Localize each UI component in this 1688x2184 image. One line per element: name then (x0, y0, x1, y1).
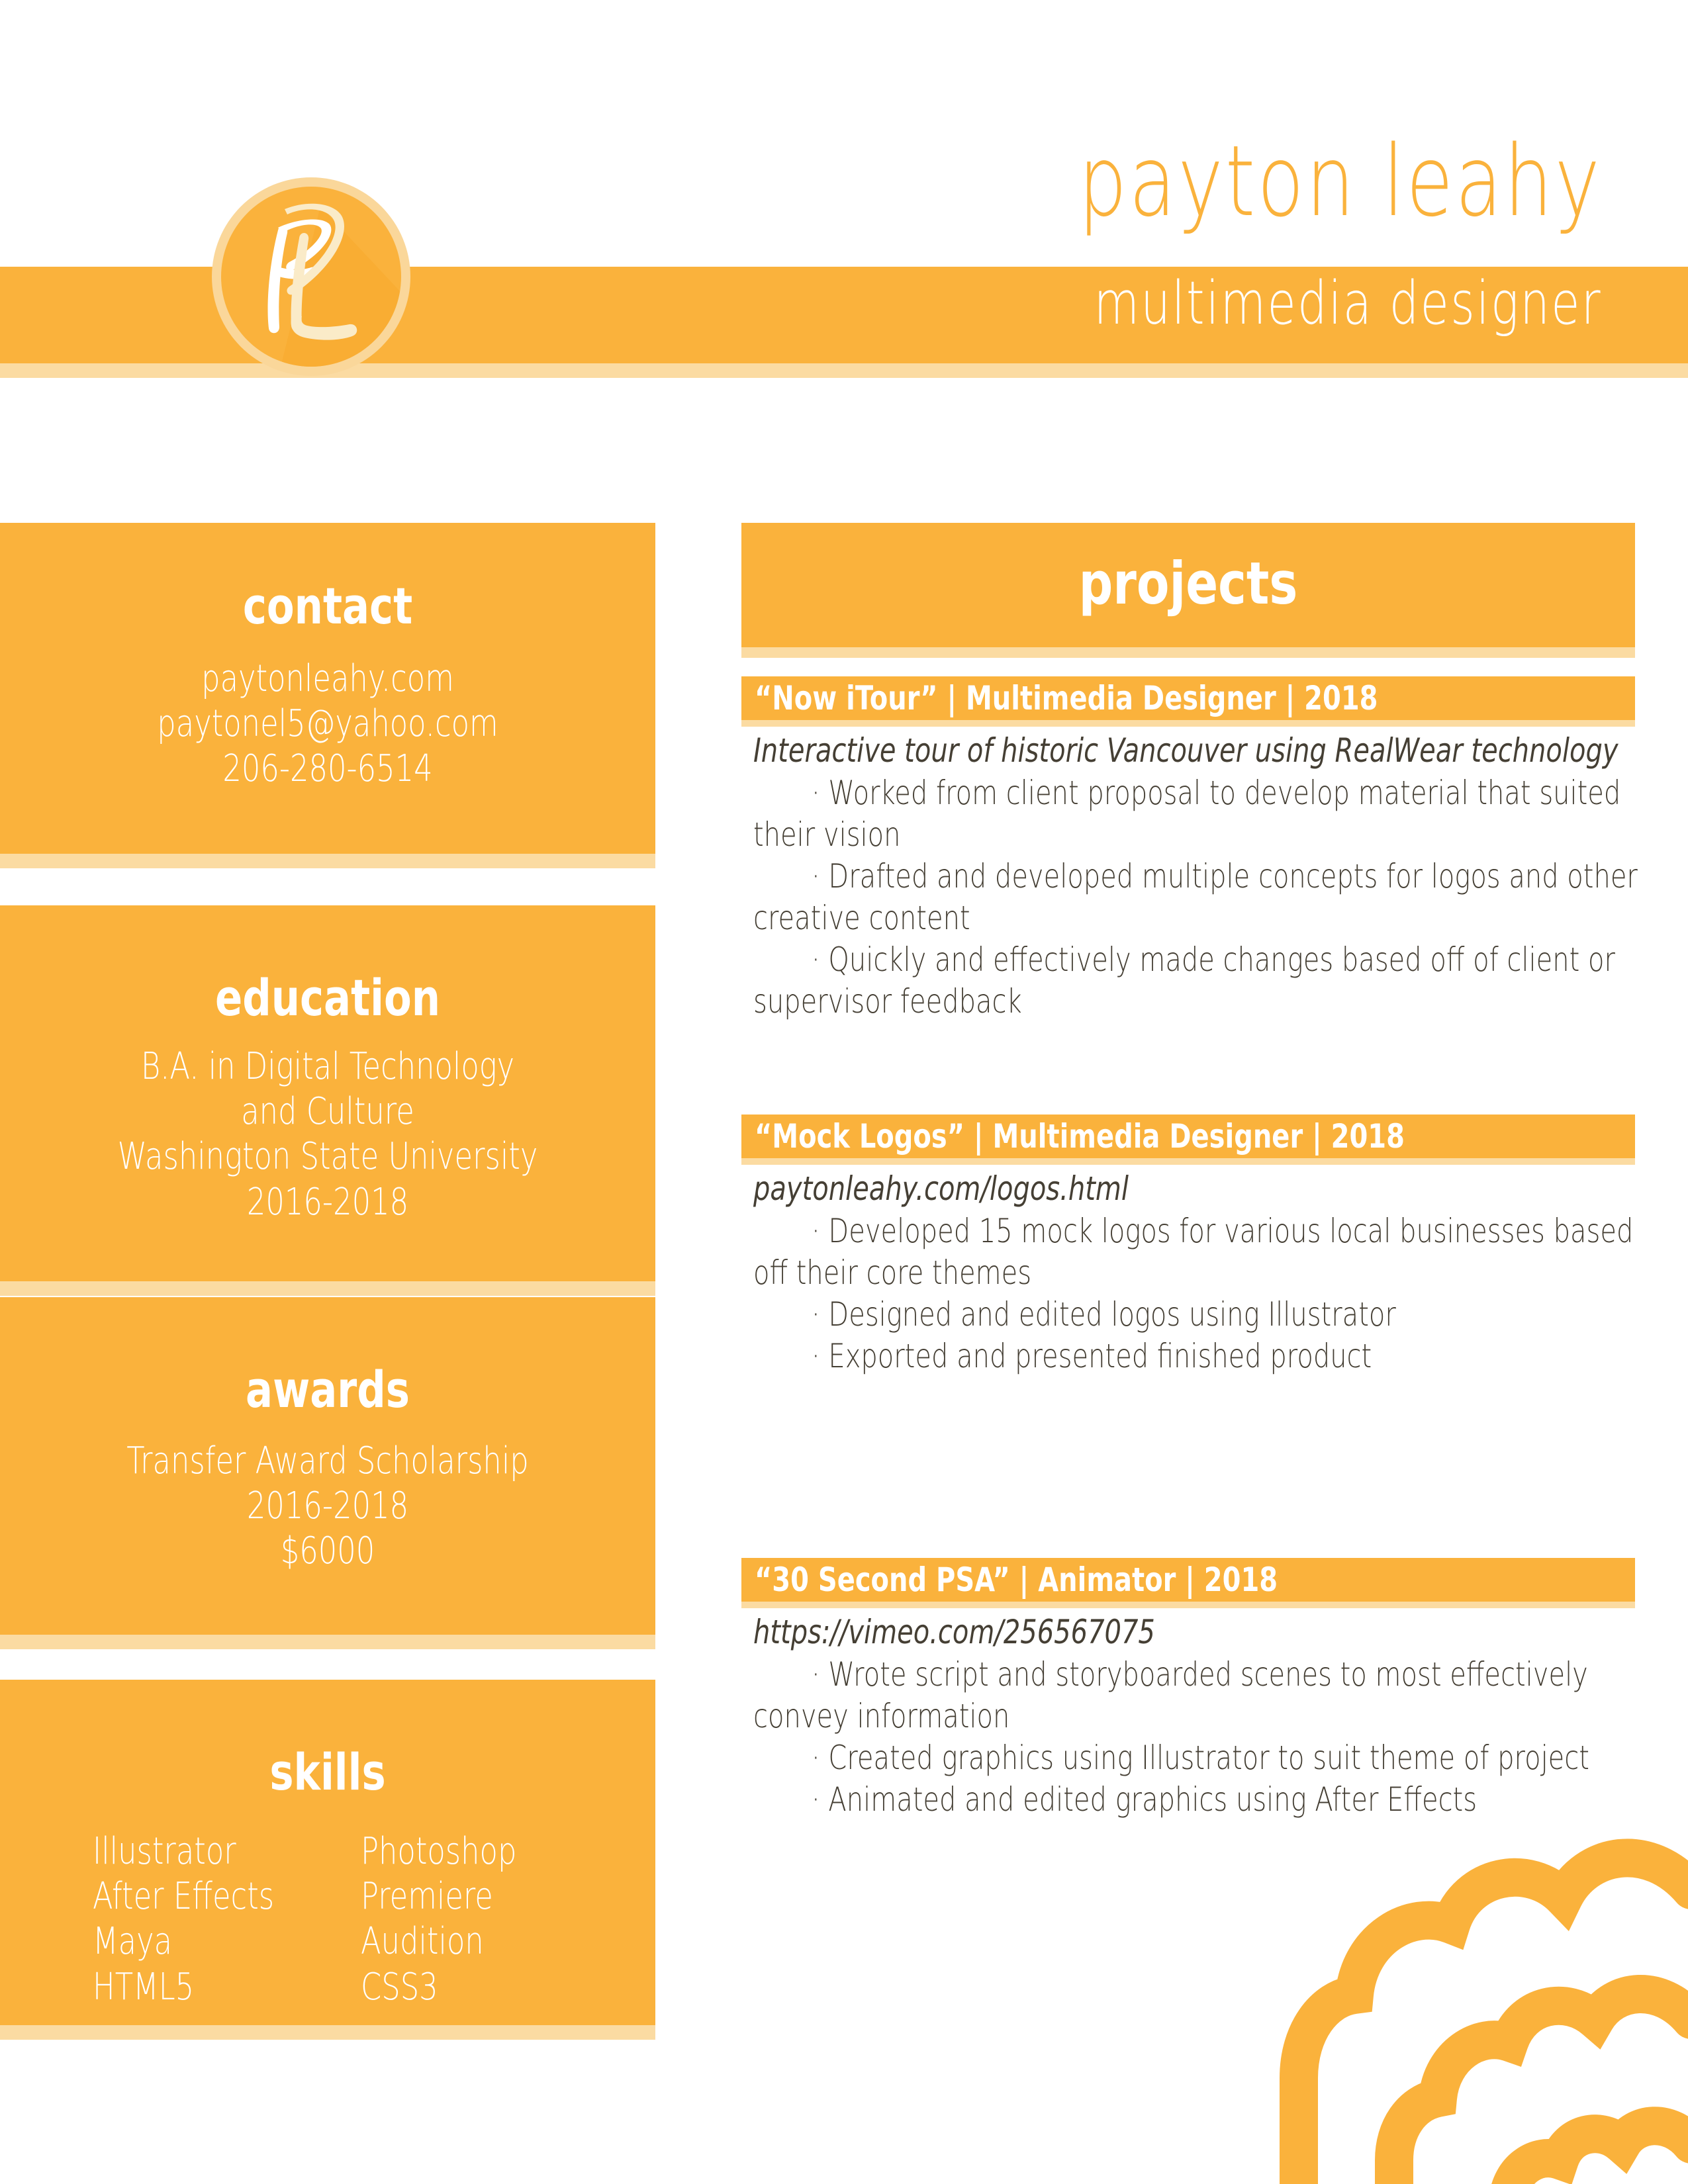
project-entry: “Now iTour” | Multimedia Designer | 2018… (741, 676, 1635, 1023)
education-heading: education (66, 972, 590, 1024)
award-years: 2016-2018 (66, 1484, 590, 1529)
pl-monogram-icon (221, 187, 401, 367)
skill-item: Audition (361, 1919, 575, 1964)
education-degree-line-1: B.A. in Digital Technology (66, 1044, 590, 1089)
project-bullet: · Exported and presented finished produc… (753, 1336, 1643, 1377)
sidebar-section-education: education B.A. in Digital Technology and… (0, 905, 655, 1281)
project-title-bar-shadow (741, 720, 1635, 727)
contact-heading: contact (66, 580, 590, 633)
project-subtitle[interactable]: https://vimeo.com/256567075 (753, 1612, 1643, 1653)
education-panel-shadow (0, 1281, 655, 1296)
projects-heading: projects (822, 523, 1555, 613)
skills-panel-shadow (0, 2025, 655, 2040)
sidebar-section-contact: contact paytonleahy.com paytonel5@yahoo.… (0, 523, 655, 854)
project-bullet: · Drafted and developed multiple concept… (753, 856, 1643, 939)
logo-circle (221, 187, 401, 367)
project-bullet: · Wrote script and storyboarded scenes t… (753, 1654, 1643, 1737)
project-title-bar: “30 Second PSA” | Animator | 2018 (741, 1558, 1635, 1602)
skill-item: Illustrator (93, 1829, 307, 1874)
project-bullets: · Developed 15 mock logos for various lo… (753, 1210, 1643, 1377)
education-school: Washington State University (66, 1134, 590, 1179)
skill-item: HTML5 (93, 1965, 307, 2010)
projects-header-shadow (741, 647, 1635, 658)
skill-item: After Effects (93, 1874, 307, 1919)
skill-item: Maya (93, 1919, 307, 1964)
skill-item: Photoshop (361, 1829, 575, 1874)
education-body: B.A. in Digital Technology and Culture W… (0, 1044, 655, 1225)
contact-email[interactable]: paytonel5@yahoo.com (66, 702, 590, 747)
contact-phone[interactable]: 206-280-6514 (66, 747, 590, 792)
project-title-bar-shadow (741, 1158, 1635, 1165)
award-amount: $6000 (66, 1529, 590, 1574)
project-title-bar: “Now iTour” | Multimedia Designer | 2018 (741, 676, 1635, 720)
project-bullet: · Designed and edited logos using Illust… (753, 1294, 1643, 1336)
award-name: Transfer Award Scholarship (66, 1439, 590, 1484)
sidebar-section-skills: skills Illustrator Photoshop After Effec… (0, 1680, 655, 2025)
page-header: payton leahy multimedia designer (0, 0, 1688, 424)
project-entry: “Mock Logos” | Multimedia Designer | 201… (741, 1115, 1635, 1377)
page-subtitle: multimedia designer (920, 274, 1602, 334)
contact-body: paytonleahy.com paytonel5@yahoo.com 206-… (0, 657, 655, 792)
contact-website[interactable]: paytonleahy.com (66, 657, 590, 702)
project-bullets: · Worked from client proposal to develop… (753, 772, 1643, 1023)
skill-item: Premiere (361, 1874, 575, 1919)
project-bullet: · Created graphics using Illustrator to … (753, 1737, 1643, 1779)
project-title-bar: “Mock Logos” | Multimedia Designer | 201… (741, 1115, 1635, 1158)
project-bullet: · Worked from client proposal to develop… (753, 772, 1643, 856)
skills-heading: skills (66, 1746, 590, 1799)
project-title-bar-shadow (741, 1602, 1635, 1608)
skills-grid: Illustrator Photoshop After Effects Prem… (0, 1829, 655, 2010)
awards-panel-shadow (0, 1635, 655, 1649)
project-title: “30 Second PSA” | Animator | 2018 (755, 1563, 1278, 1596)
awards-body: Transfer Award Scholarship 2016-2018 $60… (0, 1439, 655, 1574)
sidebar-section-awards: awards Transfer Award Scholarship 2016-2… (0, 1297, 655, 1635)
project-title: “Now iTour” | Multimedia Designer | 2018 (755, 682, 1378, 715)
education-years: 2016-2018 (66, 1180, 590, 1225)
project-subtitle[interactable]: paytonleahy.com/logos.html (753, 1169, 1643, 1209)
logo (212, 177, 410, 376)
page-title: payton leahy (920, 132, 1602, 230)
project-bullet: · Developed 15 mock logos for various lo… (753, 1210, 1643, 1294)
skill-item: CSS3 (361, 1965, 575, 2010)
project-subtitle[interactable]: Interactive tour of historic Vancouver u… (753, 731, 1643, 771)
contact-panel-shadow (0, 854, 655, 868)
education-degree-line-2: and Culture (66, 1089, 590, 1134)
project-bullets: · Wrote script and storyboarded scenes t… (753, 1654, 1643, 1821)
project-entry: “30 Second PSA” | Animator | 2018 https:… (741, 1558, 1635, 1821)
project-bullet: · Quickly and effectively made changes b… (753, 939, 1643, 1023)
projects-header-band: projects (741, 523, 1635, 647)
project-bullet: · Animated and edited graphics using Aft… (753, 1779, 1643, 1821)
project-title: “Mock Logos” | Multimedia Designer | 201… (755, 1120, 1405, 1153)
awards-heading: awards (66, 1363, 590, 1416)
